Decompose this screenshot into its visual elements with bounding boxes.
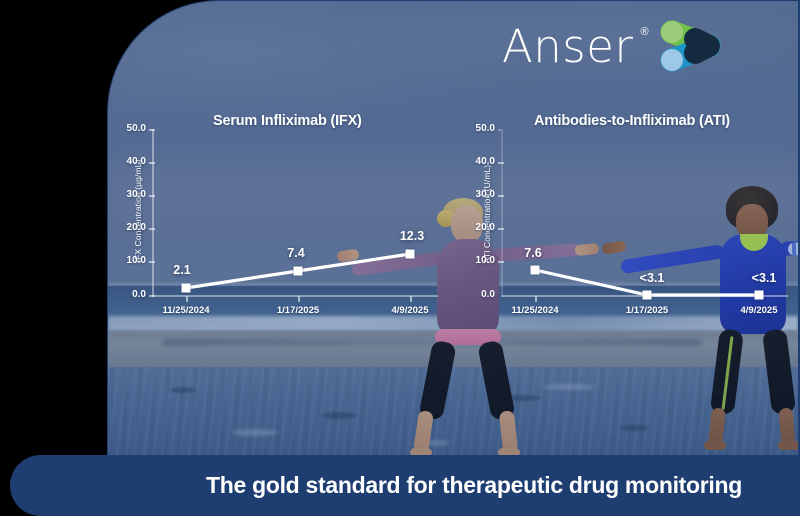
chart-ifx-value-label-1: 7.4 (287, 246, 304, 260)
chart-ati-xtick-0: 11/25/2024 (511, 305, 558, 316)
chart-ifx-marker-1 (294, 267, 303, 276)
chart-ati-marker-1 (643, 291, 652, 300)
chart-ati-xtick-2: 4/9/2025 (741, 305, 778, 316)
chart-ifx-xtick-1: 1/17/2025 (277, 305, 319, 316)
chart-ifx-xtick-0: 11/25/2024 (162, 305, 209, 316)
chart-ifx-series-line (108, 1, 458, 341)
poster-canvas: Anser ® Serum Infliximab (IFX) IFX Conce… (0, 0, 800, 516)
tagline-text: The gold standard for therapeutic drug m… (56, 472, 754, 499)
chart-ifx: Serum Infliximab (IFX) IFX Concentration… (108, 1, 458, 341)
chart-ati-xtick-1: 1/17/2025 (626, 305, 668, 316)
tagline-banner: The gold standard for therapeutic drug m… (10, 455, 800, 516)
chart-ati-value-label-0: 7.6 (524, 246, 541, 260)
hero-image-panel: Anser ® Serum Infliximab (IFX) IFX Conce… (107, 0, 800, 462)
chart-ifx-value-label-2: 12.3 (400, 229, 424, 243)
chart-ati-marker-2 (755, 291, 764, 300)
chart-ati-xtickmark-0 (535, 296, 537, 302)
chart-ifx-marker-2 (406, 250, 415, 259)
chart-ifx-xtick-2: 4/9/2025 (392, 305, 429, 316)
chart-ati-value-label-2: <3.1 (752, 271, 777, 285)
chart-ati-value-label-1: <3.1 (640, 271, 665, 285)
chart-ifx-value-label-0: 2.1 (173, 263, 190, 277)
chart-ifx-marker-0 (182, 284, 191, 293)
chart-ifx-xtickmark-0 (186, 296, 188, 302)
chart-ati-series-line (456, 1, 800, 341)
chart-ifx-xtickmark-1 (298, 296, 300, 302)
chart-ati-marker-0 (531, 266, 540, 275)
chart-ati: Antibodies-to-Infliximab (ATI) ATI Conce… (456, 1, 800, 341)
chart-ifx-xtickmark-2 (410, 296, 412, 302)
